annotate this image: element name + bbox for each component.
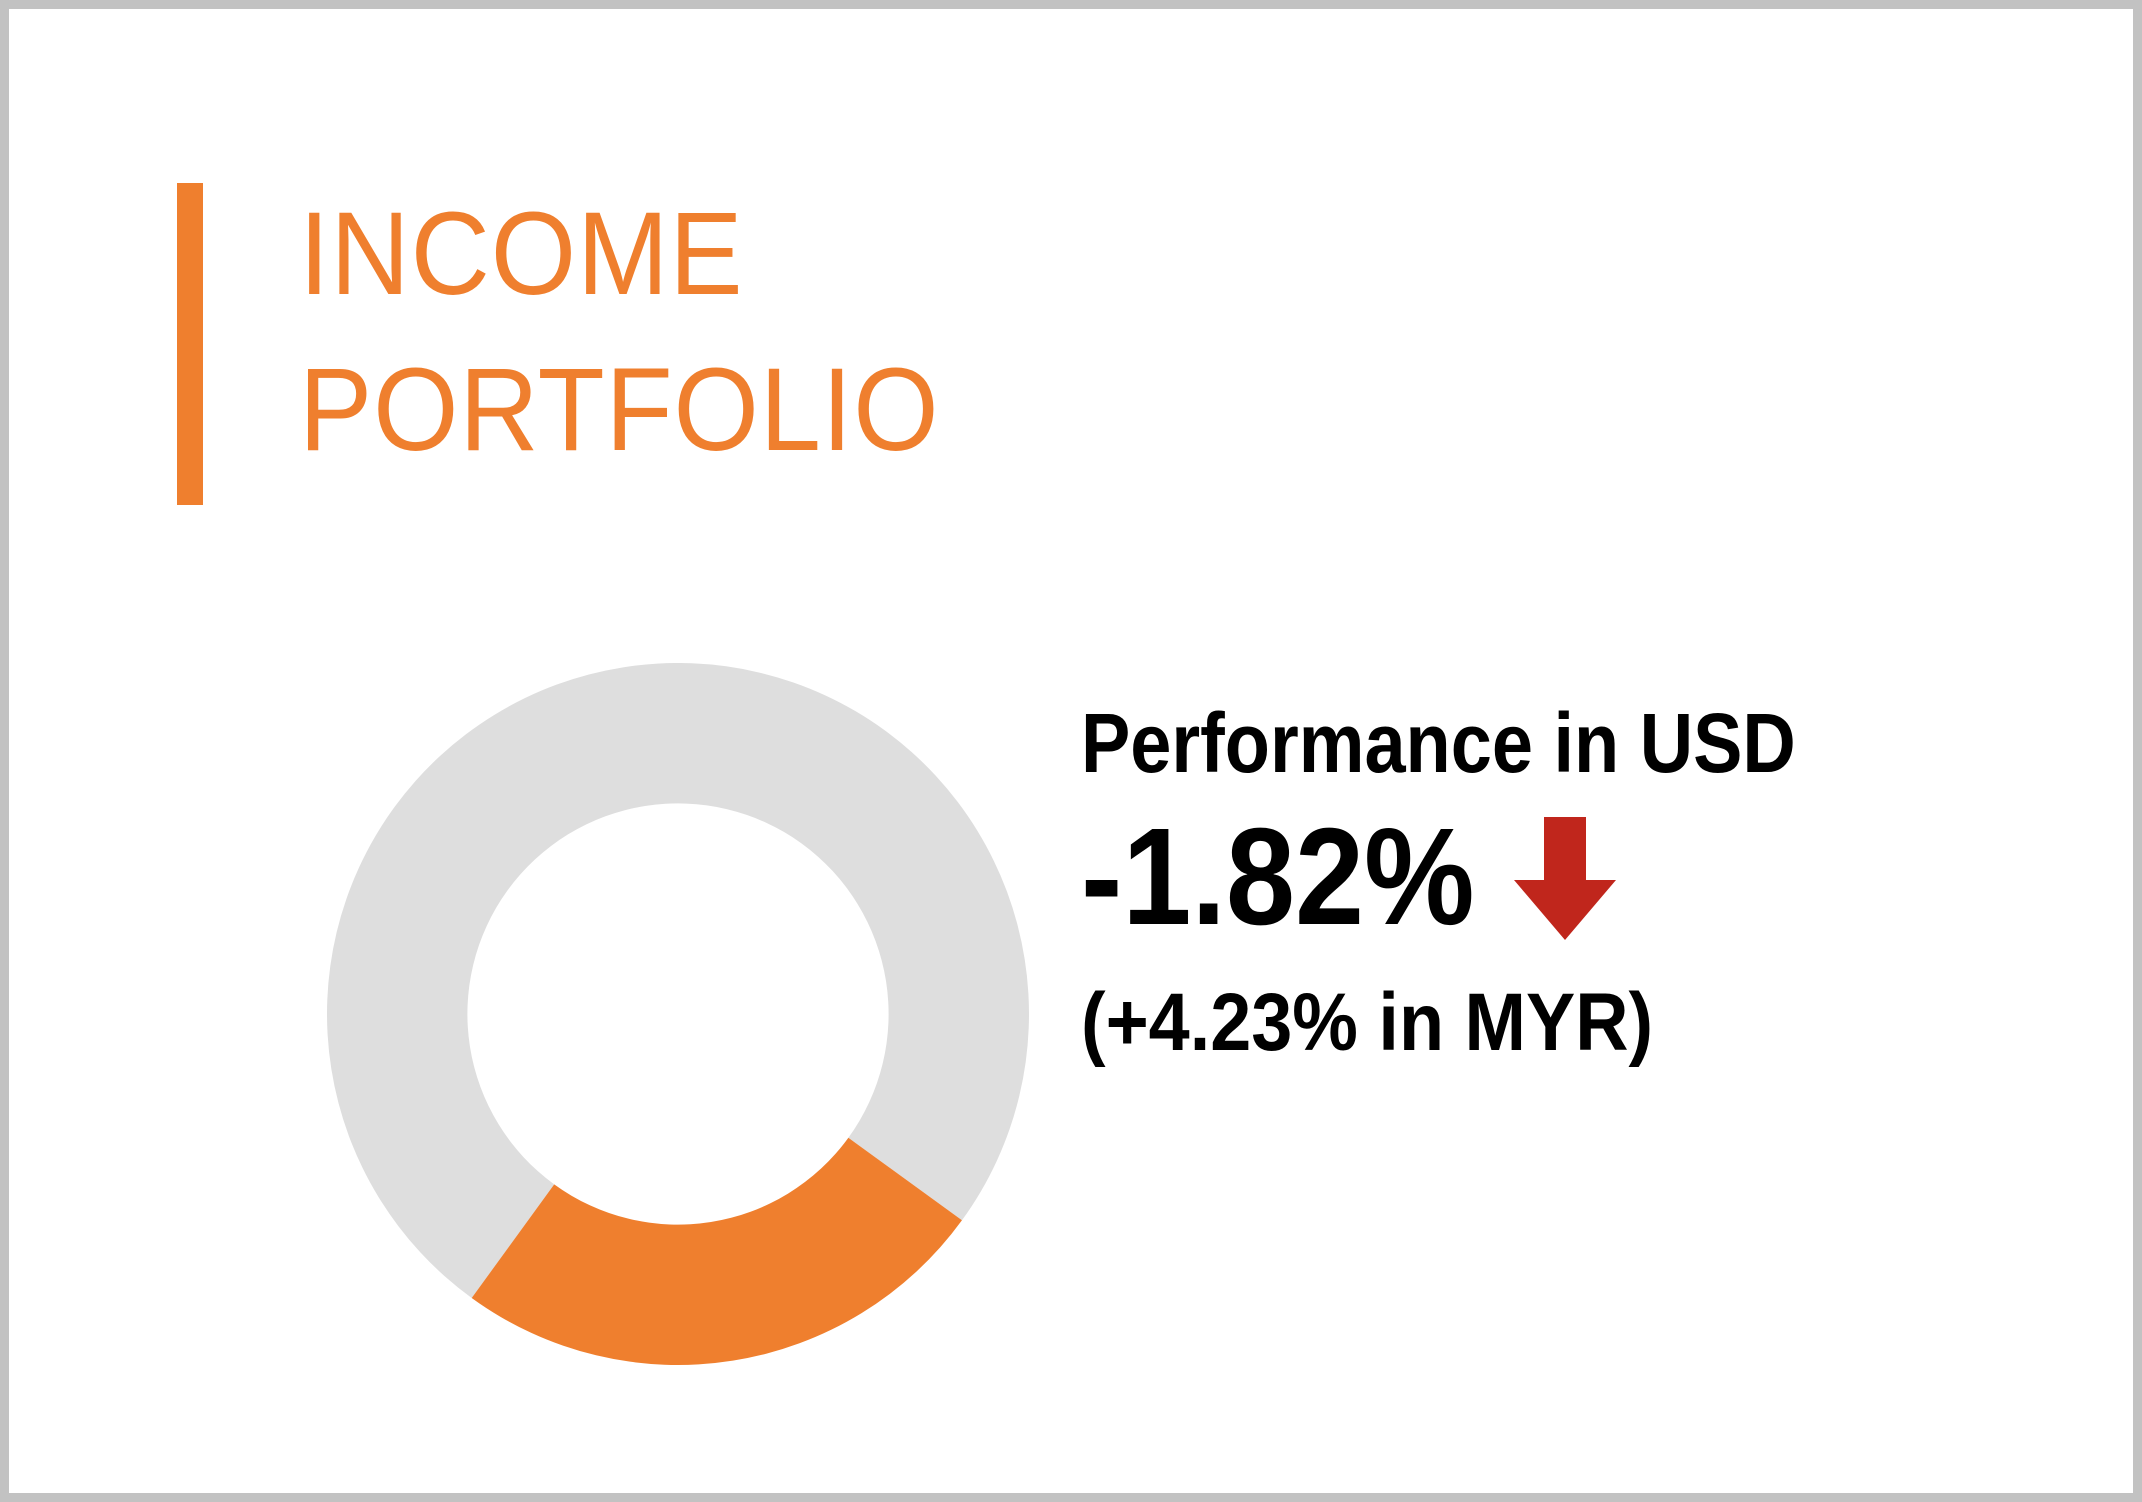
performance-block: Performance in USD -1.82% (+4.23% in MYR… [1081,699,2081,1068]
performance-heading: Performance in USD [1081,699,1961,788]
slide-frame: INCOME PORTFOLIO Performance in USD -1.8… [0,0,2142,1502]
title-accent-bar [177,183,203,505]
donut-chart-svg [327,663,1029,1365]
page-title: INCOME PORTFOLIO [177,177,988,505]
title-lines: INCOME PORTFOLIO [299,177,988,489]
donut-chart [327,663,1029,1365]
title-line-portfolio: PORTFOLIO [299,333,940,489]
performance-value-row: -1.82% [1081,802,2081,952]
card-surface: INCOME PORTFOLIO Performance in USD -1.8… [9,9,2133,1493]
donut-segment-allocated [472,1138,962,1365]
performance-secondary-value: (+4.23% in MYR) [1081,978,1981,1068]
arrow-down-icon [1490,802,1640,952]
performance-primary-value: -1.82% [1081,805,1475,950]
title-line-income: INCOME [299,177,940,333]
